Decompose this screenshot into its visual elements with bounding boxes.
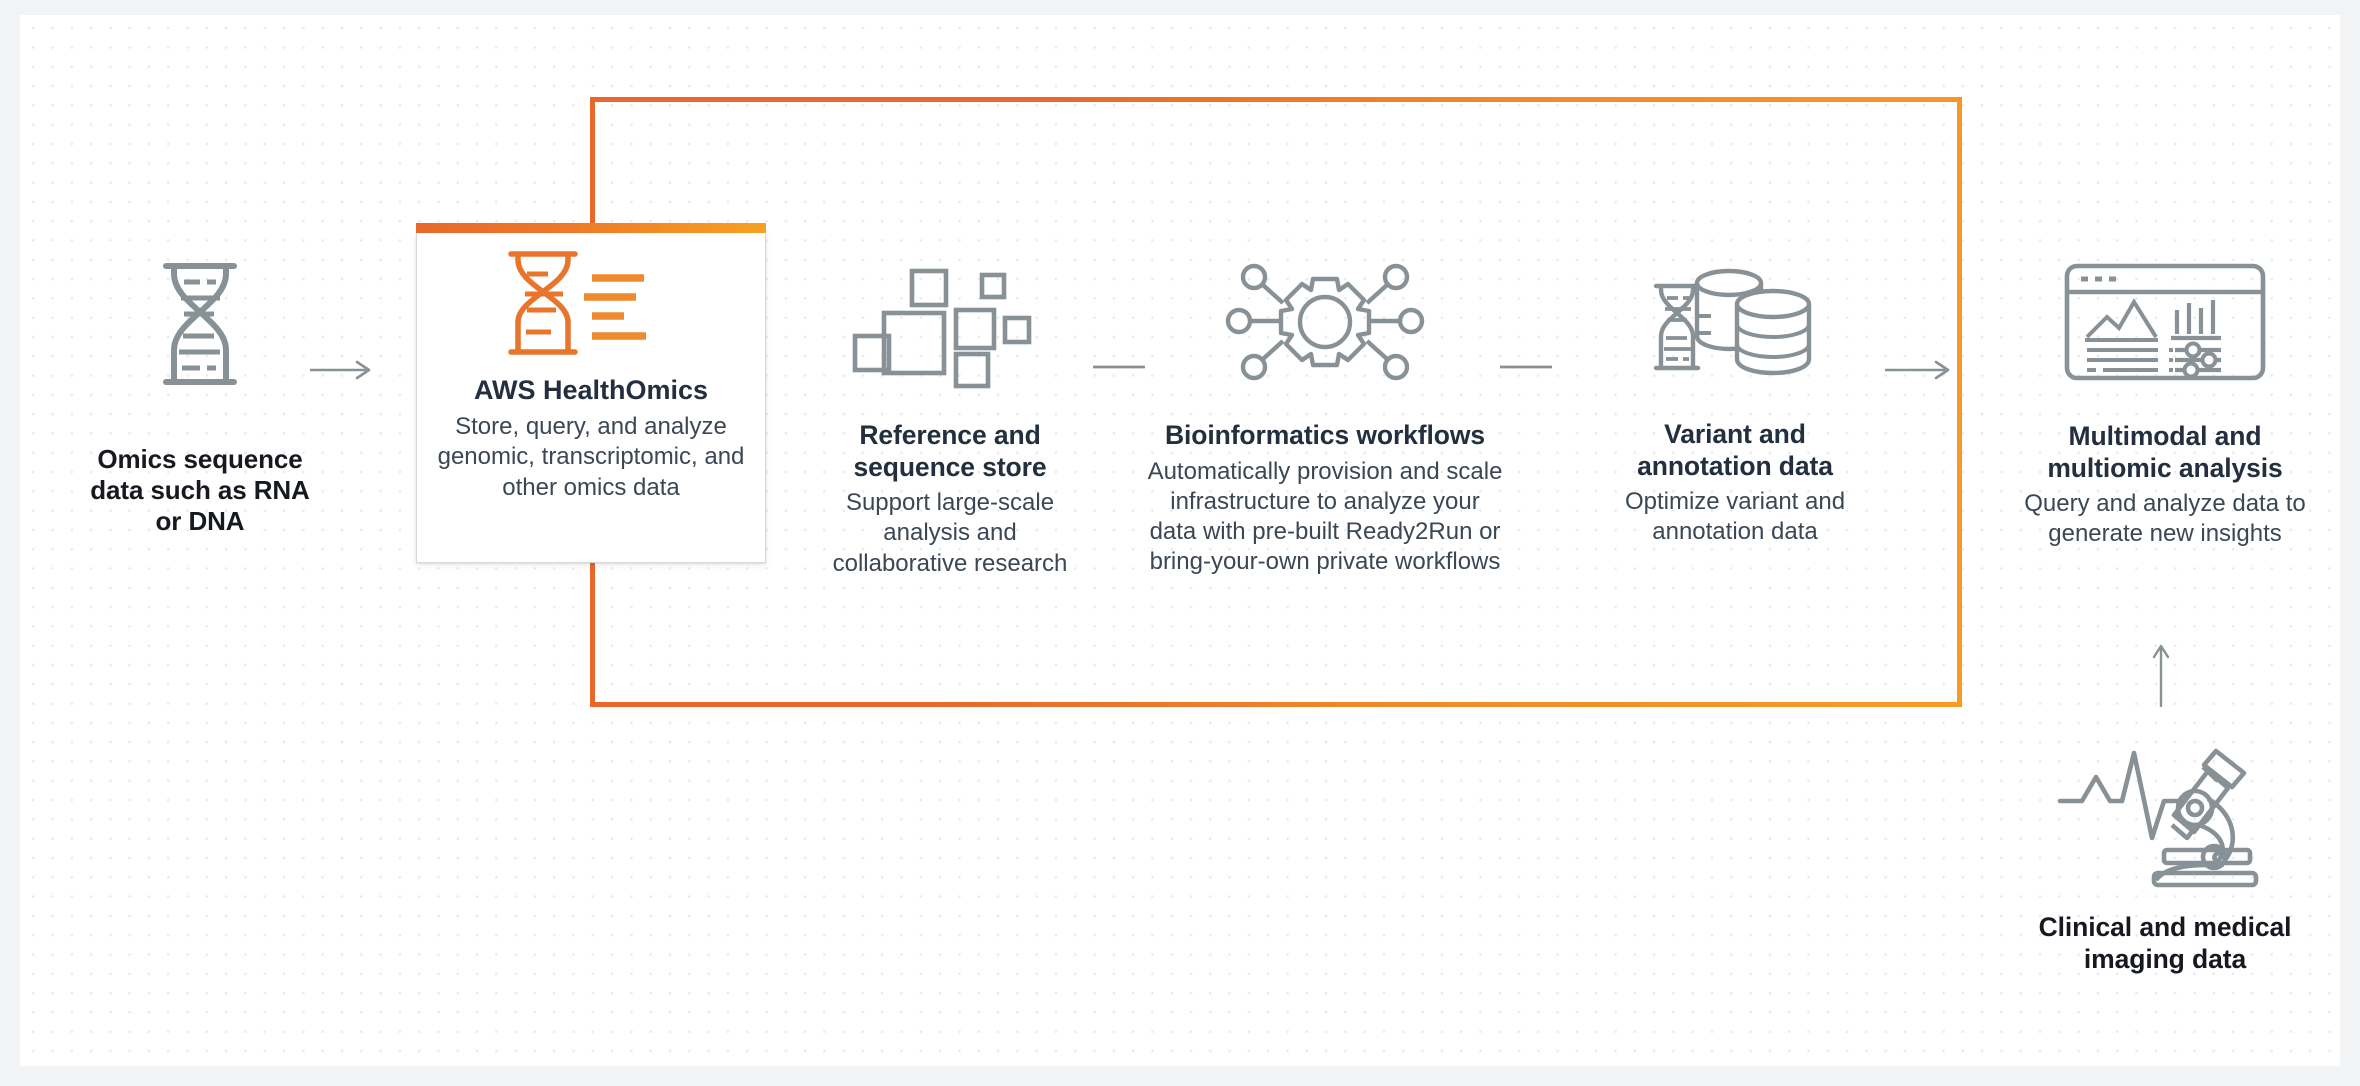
dna-database-icon (1595, 255, 1875, 385)
node-title: Reference and sequence store (820, 420, 1080, 483)
card-title: AWS HealthOmics (417, 375, 765, 406)
node-description: Optimize variant and annotation data (1595, 487, 1875, 547)
gear-network-icon (1145, 257, 1505, 385)
node-clinical-imaging-data: Clinical and medical imaging data (2010, 730, 2320, 975)
node-description: Query and analyze data to generate new i… (2010, 489, 2320, 549)
analytics-dashboard-icon (2010, 258, 2320, 386)
node-multimodal-analysis: Multimodal and multiomic analysis Query … (2010, 258, 2320, 550)
card-aws-healthomics[interactable]: AWS HealthOmics Store, query, and analyz… (416, 233, 766, 563)
squares-cluster-icon (820, 263, 1080, 383)
node-description: Automatically provision and scale infras… (1145, 457, 1505, 578)
node-description: Support large-scale analysis and collabo… (820, 488, 1080, 579)
node-bioinformatics-workflows: Bioinformatics workflows Automatically p… (1145, 257, 1505, 577)
node-variant-annotation-data: Variant and annotation data Optimize var… (1595, 255, 1875, 548)
connector-workflows-to-variant (1500, 364, 1552, 370)
connector-variant-to-multimodal (1885, 360, 1957, 380)
diagram-canvas: Omics sequence data such as RNA or DNA (20, 15, 2340, 1066)
node-title: Variant and annotation data (1595, 419, 1875, 482)
node-title: Omics sequence data such as RNA or DNA (80, 444, 320, 537)
dna-helix-icon (80, 255, 320, 395)
card-accent-bar (416, 223, 766, 233)
node-title: Multimodal and multiomic analysis (2010, 421, 2320, 484)
card-description: Store, query, and analyze genomic, trans… (417, 412, 765, 503)
connector-clinical-to-multimodal (2151, 643, 2171, 707)
node-reference-sequence-store: Reference and sequence store Support lar… (820, 263, 1080, 579)
node-omics-sequence-data: Omics sequence data such as RNA or DNA (80, 255, 320, 537)
dna-helix-lines-icon (417, 233, 765, 359)
microscope-heartbeat-icon (2010, 730, 2320, 890)
node-title: Bioinformatics workflows (1145, 420, 1505, 452)
node-title: Clinical and medical imaging data (2010, 912, 2320, 975)
connector-reference-to-workflows (1093, 364, 1145, 370)
connector-omics-to-healthomics (310, 360, 378, 380)
